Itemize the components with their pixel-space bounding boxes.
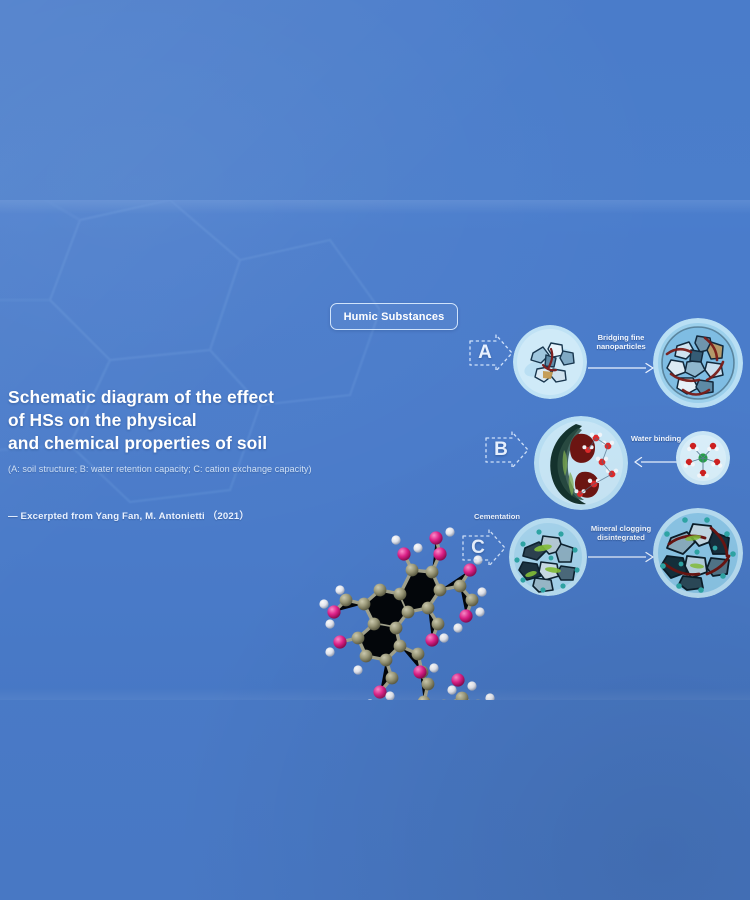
source-credit: — Excerpted from Yang Fan, M. Antonietti…	[8, 508, 348, 522]
humic-crescent-water-icon	[534, 416, 628, 510]
humic-substances-label: Humic Substances	[330, 303, 458, 330]
title-line-3: and chemical properties of soil	[8, 433, 267, 453]
title-line-2: of HSs on the physical	[8, 410, 197, 430]
row-tag-c: C	[461, 528, 507, 568]
row-tag-c-letter: C	[461, 528, 495, 568]
connector-label-b: Water binding	[626, 434, 686, 443]
connector-arrow-a	[588, 362, 654, 374]
title-line-1: Schematic diagram of the effect	[8, 387, 274, 407]
row-tag-a-letter: A	[468, 333, 502, 373]
soil-aggregate-bridged-icon	[653, 318, 743, 408]
row-tag-a: A	[468, 333, 514, 373]
subtitle-legend: (A: soil structure; B: water retention c…	[8, 464, 348, 474]
row-tag-b: B	[484, 430, 530, 470]
connector-label-a: Bridging fine nanoparticles	[578, 333, 664, 352]
text-block: Schematic diagram of the effect of HSs o…	[8, 386, 348, 522]
disintegrated-aggregate-icon	[653, 508, 743, 598]
band-spacer	[0, 200, 1, 201]
connector-arrow-b	[634, 456, 678, 468]
page-title: Schematic diagram of the effect of HSs o…	[8, 386, 348, 455]
hydrated-cation-icon	[676, 431, 730, 485]
poster-canvas: Humic Substances A	[0, 0, 750, 900]
row-tag-b-letter: B	[484, 430, 518, 470]
connector-arrow-c	[588, 551, 654, 563]
cementation-label: Cementation	[461, 512, 533, 521]
soil-aggregate-loose-icon	[513, 325, 587, 399]
